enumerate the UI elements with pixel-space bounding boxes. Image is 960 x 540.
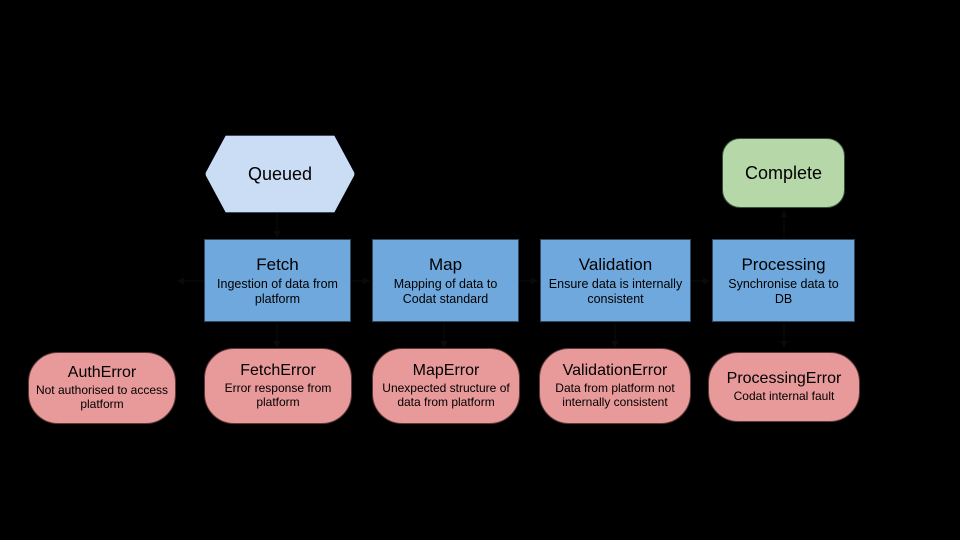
error-processing-error-title: ProcessingError <box>727 370 842 388</box>
stage-map[interactable]: Map Mapping of data to Codat standard <box>372 239 519 322</box>
stage-validation[interactable]: Validation Ensure data is internally con… <box>540 239 691 322</box>
error-validation-error-subtitle: Data from platform not internally consis… <box>540 382 690 410</box>
error-fetch-error[interactable]: FetchError Error response from platform <box>204 348 352 424</box>
error-auth-error-subtitle: Not authorised to access platform <box>29 384 175 412</box>
error-processing-error[interactable]: ProcessingError Codat internal fault <box>708 352 860 422</box>
stage-processing[interactable]: Processing Synchronise data to DB <box>712 239 855 322</box>
stage-validation-subtitle: Ensure data is internally consistent <box>541 277 690 306</box>
stage-processing-subtitle: Synchronise data to DB <box>713 277 854 306</box>
error-map-error[interactable]: MapError Unexpected structure of data fr… <box>372 348 520 424</box>
stage-fetch[interactable]: Fetch Ingestion of data from platform <box>204 239 351 322</box>
state-complete-label: Complete <box>745 163 822 184</box>
stage-processing-title: Processing <box>741 255 825 275</box>
error-auth-error[interactable]: AuthError Not authorised to access platf… <box>28 352 176 424</box>
error-map-error-title: MapError <box>413 362 480 380</box>
error-validation-error-title: ValidationError <box>563 362 668 380</box>
stage-fetch-subtitle: Ingestion of data from platform <box>205 277 350 306</box>
state-queued-label: Queued <box>248 164 312 185</box>
error-map-error-subtitle: Unexpected structure of data from platfo… <box>373 382 519 410</box>
stage-map-subtitle: Mapping of data to Codat standard <box>373 277 518 306</box>
error-processing-error-subtitle: Codat internal fault <box>728 390 841 404</box>
error-fetch-error-title: FetchError <box>240 362 316 380</box>
error-auth-error-title: AuthError <box>68 364 136 382</box>
error-fetch-error-subtitle: Error response from platform <box>205 382 351 410</box>
stage-map-title: Map <box>429 255 462 275</box>
state-queued[interactable]: Queued <box>205 135 355 213</box>
diagram-canvas: Queued Complete Fetch Ingestion of data … <box>0 0 960 540</box>
state-complete[interactable]: Complete <box>722 138 845 208</box>
stage-validation-title: Validation <box>579 255 652 275</box>
stage-fetch-title: Fetch <box>256 255 299 275</box>
error-validation-error[interactable]: ValidationError Data from platform not i… <box>539 348 691 424</box>
